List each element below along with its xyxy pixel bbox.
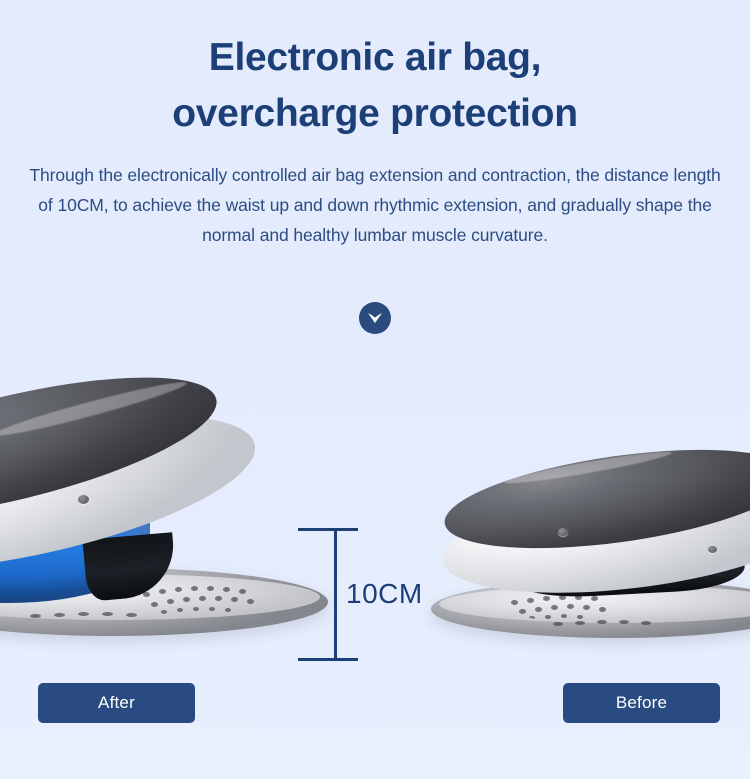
page-title: Electronic air bag, overcharge protectio… [0, 30, 750, 142]
headline-line-1: Electronic air bag, [0, 30, 750, 86]
after-button[interactable]: After [38, 683, 195, 723]
chevron-down-icon[interactable] [359, 302, 391, 334]
product-comparison-stage: 10CM [0, 360, 750, 670]
product-port-upper-before [558, 528, 568, 536]
dimension-annotation: 10CM [298, 528, 428, 663]
headline-line-2: overcharge protection [0, 86, 750, 142]
before-button[interactable]: Before [563, 683, 720, 723]
perforation-pattern-lower [20, 608, 190, 630]
product-before-image [425, 410, 750, 660]
dimension-cap-top [298, 528, 358, 531]
product-port-upper [78, 495, 89, 504]
promo-page: Electronic air bag, overcharge protectio… [0, 0, 750, 779]
dimension-line [334, 528, 337, 661]
description-text: Through the electronically controlled ai… [0, 160, 750, 250]
product-port-lower-before [708, 546, 717, 553]
perforation-pattern-before-lower [545, 616, 705, 636]
dimension-label: 10CM [346, 580, 423, 608]
dimension-cap-bottom [298, 658, 358, 661]
